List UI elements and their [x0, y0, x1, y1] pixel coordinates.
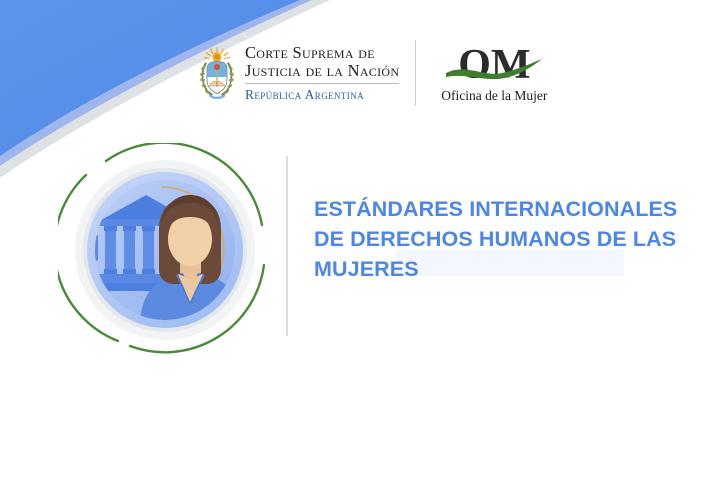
- presentation-slide: Corte Suprema de Justicia de la Nación R…: [0, 0, 720, 480]
- court-country-subtitle: República Argentina: [245, 87, 399, 103]
- argentina-coat-of-arms-icon: [196, 44, 238, 102]
- om-green-swoosh-icon: [440, 43, 548, 87]
- title-block: ESTÁNDARES INTERNACIONALES DE DERECHOS H…: [314, 194, 700, 284]
- court-name-line-2: Justicia de la Nación: [245, 62, 399, 80]
- page-title: ESTÁNDARES INTERNACIONALES DE DERECHOS H…: [314, 194, 700, 284]
- om-monogram: OM: [440, 43, 548, 87]
- sun-of-may: [204, 47, 230, 62]
- logo-separator-rule: [415, 40, 416, 106]
- court-name-line-1: Corte Suprema de: [245, 44, 399, 62]
- om-caption: Oficina de la Mujer: [441, 88, 547, 104]
- header-logo-bar: Corte Suprema de Justicia de la Nación R…: [196, 38, 548, 108]
- supreme-court-logo: Corte Suprema de Justicia de la Nación R…: [196, 44, 399, 102]
- oficina-de-la-mujer-logo: OM Oficina de la Mujer: [440, 43, 548, 104]
- woman-and-courthouse-illustration: [58, 143, 272, 357]
- content-divider-rule: [286, 156, 288, 336]
- wordmark-divider: [245, 83, 399, 84]
- supreme-court-wordmark: Corte Suprema de Justicia de la Nación R…: [245, 44, 399, 102]
